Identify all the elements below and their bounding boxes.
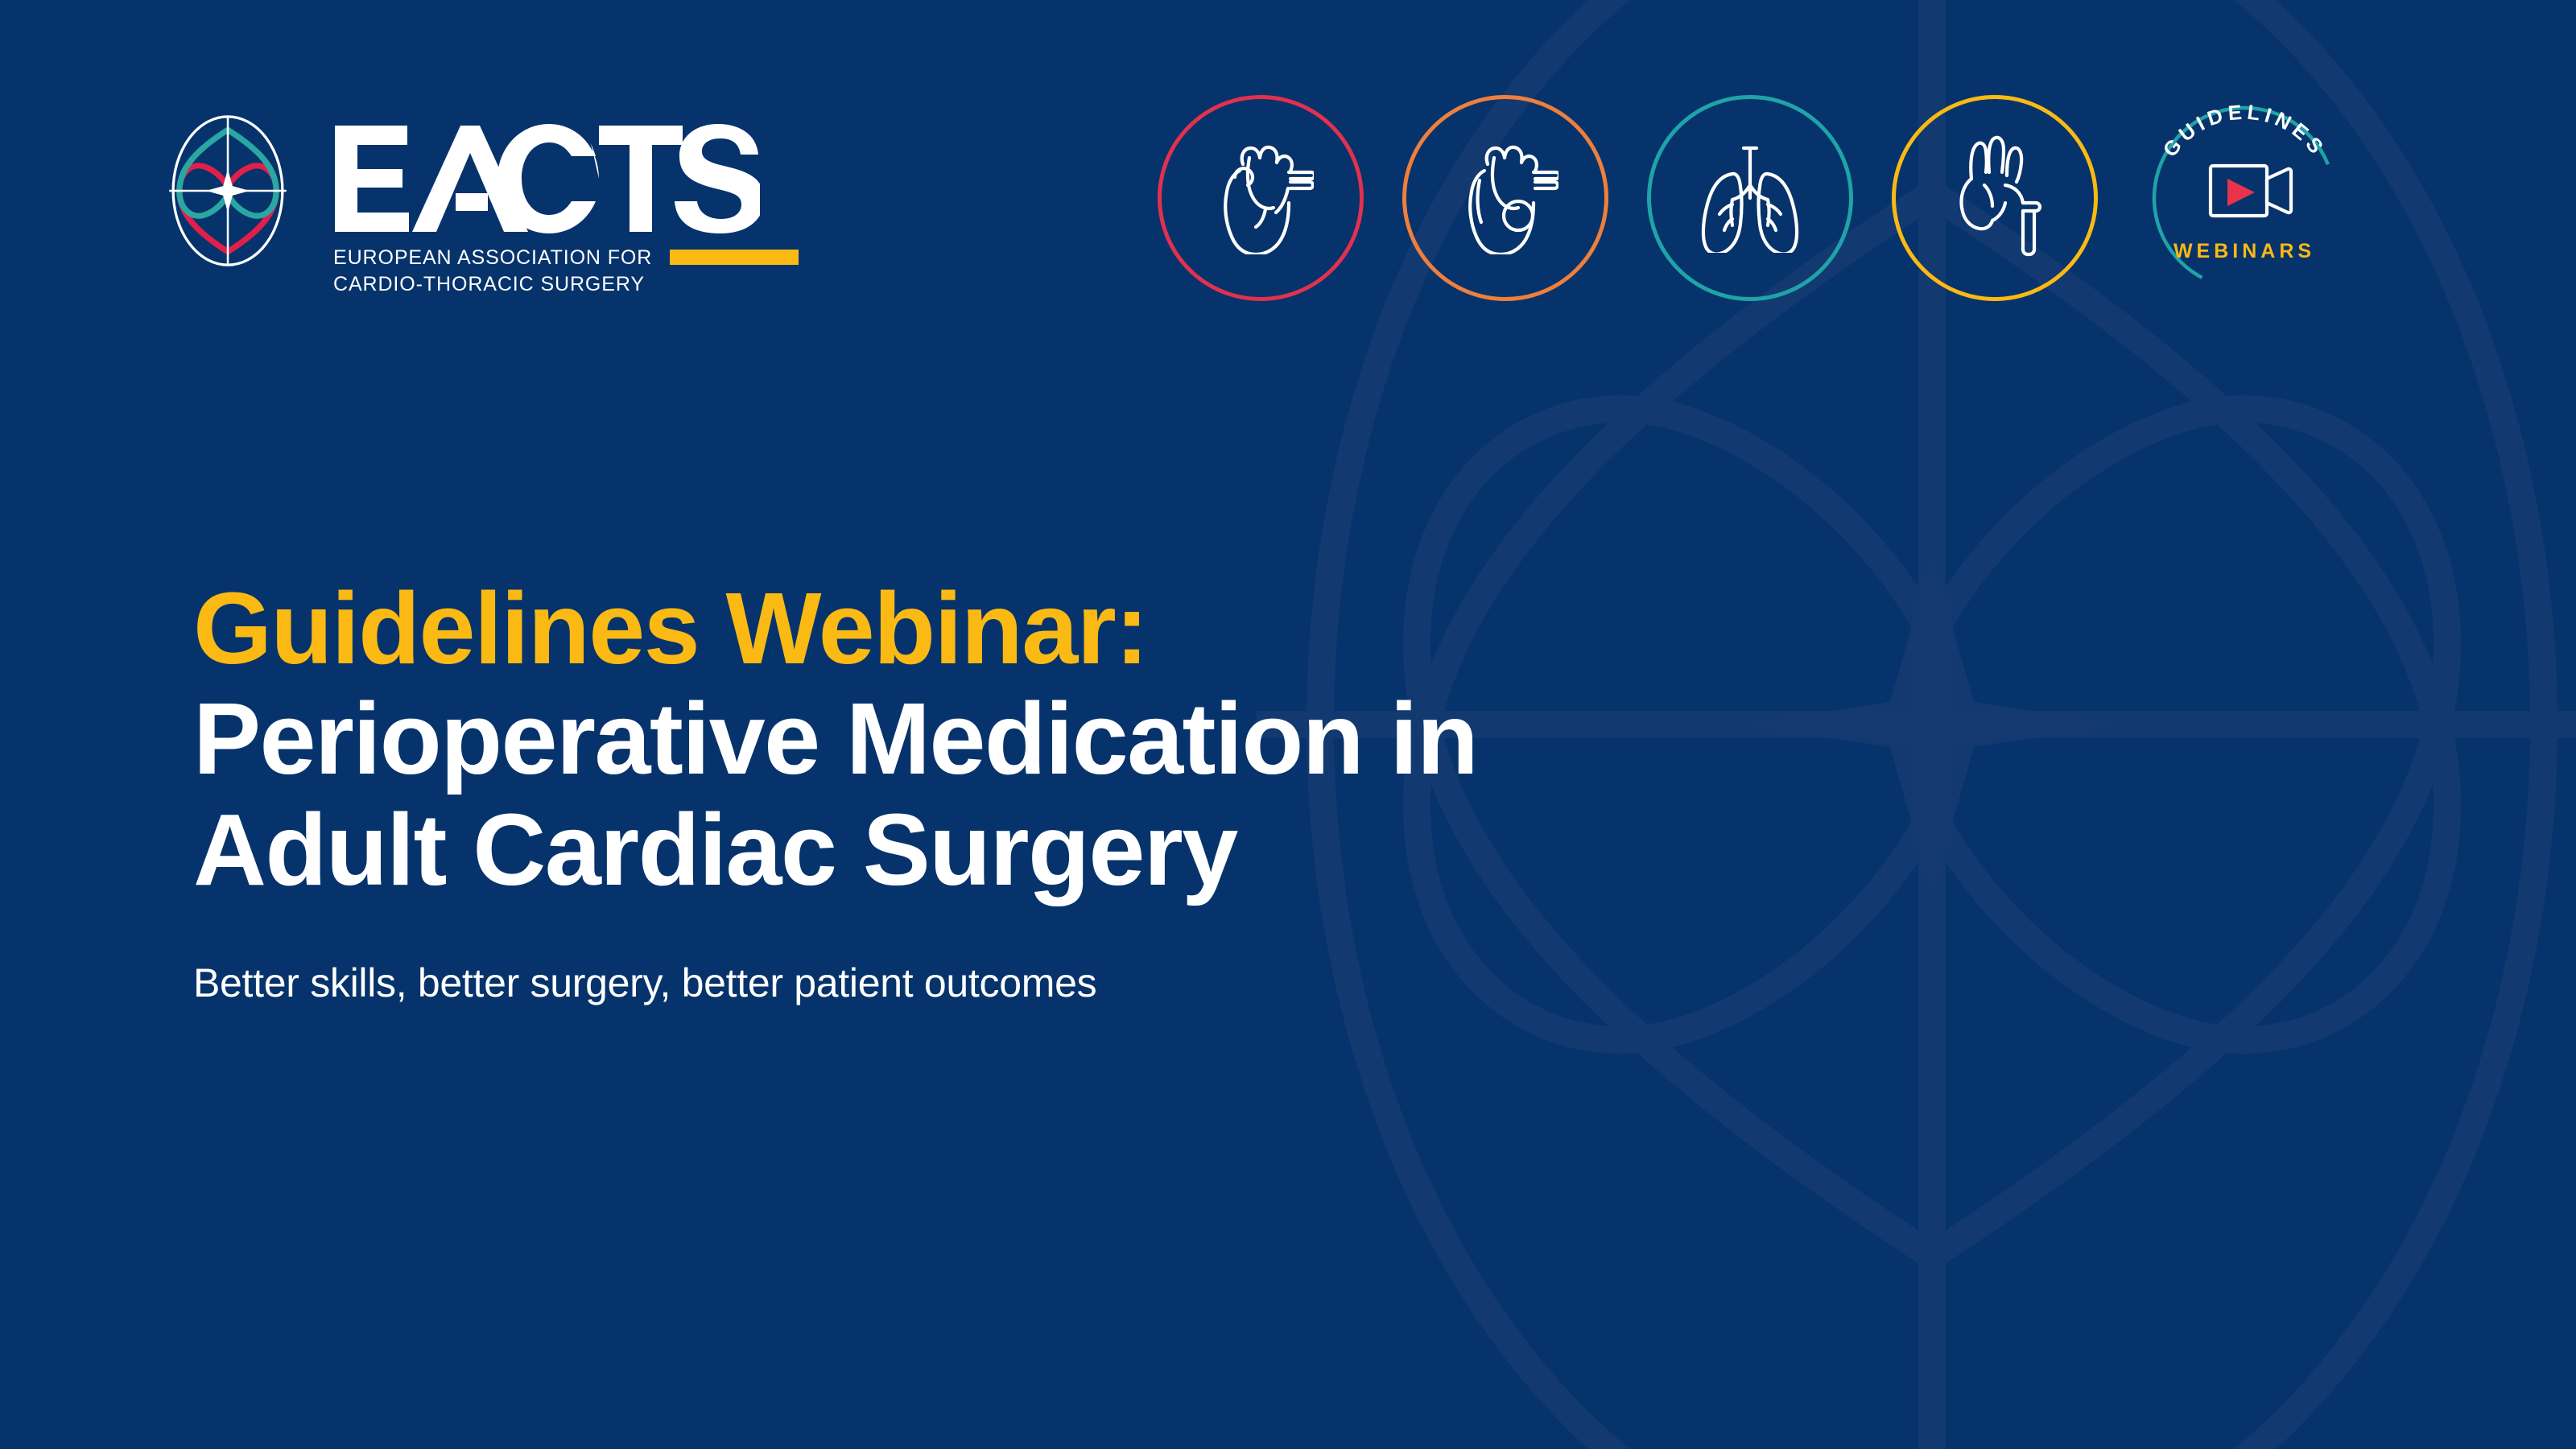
aorta-icon xyxy=(1944,135,2046,261)
play-triangle-icon xyxy=(2227,179,2255,206)
badge-arc-text: GUIDELINES xyxy=(2159,101,2330,162)
page-title-line-3: Adult Cardiac Surgery xyxy=(193,795,2045,905)
page-subtitle: Better skills, better surgery, better pa… xyxy=(193,960,2045,1006)
badge-bottom-text: WEBINARS xyxy=(2173,240,2315,262)
header: EUROPEAN ASSOCIATION FOR CARDIO-THORACIC… xyxy=(0,0,2576,322)
title-block: Guidelines Webinar: Perioperative Medica… xyxy=(193,573,2045,1006)
logo-subtitle-line-2: CARDIO-THORACIC SURGERY xyxy=(333,271,652,298)
specialty-icon-row: GUIDELINES WEBINARS xyxy=(1158,90,2352,306)
eacts-wordmark-block: EUROPEAN ASSOCIATION FOR CARDIO-THORACIC… xyxy=(333,113,799,298)
logo-accent-bar xyxy=(670,250,799,265)
lungs-icon-circle[interactable] xyxy=(1647,95,1853,301)
heart-icon xyxy=(1207,142,1314,254)
eacts-wordmark xyxy=(333,122,760,235)
guidelines-webinars-badge[interactable]: GUIDELINES WEBINARS xyxy=(2136,90,2352,306)
page-title-line-2: Perioperative Medication in xyxy=(193,683,2045,794)
logo-subtitle-line-1: EUROPEAN ASSOCIATION FOR xyxy=(333,245,652,271)
heart-valve-icon-circle[interactable] xyxy=(1402,95,1608,301)
lungs-icon xyxy=(1694,143,1806,253)
page-title-line-1: Guidelines Webinar: xyxy=(193,573,2045,683)
heart-valve-icon xyxy=(1452,142,1558,254)
logo-subtitle-row: EUROPEAN ASSOCIATION FOR CARDIO-THORACIC… xyxy=(333,245,799,298)
heart-icon-circle[interactable] xyxy=(1158,95,1364,301)
eacts-logo[interactable]: EUROPEAN ASSOCIATION FOR CARDIO-THORACIC… xyxy=(150,113,799,298)
eacts-logo-mark xyxy=(150,113,306,269)
aorta-icon-circle[interactable] xyxy=(1892,95,2098,301)
